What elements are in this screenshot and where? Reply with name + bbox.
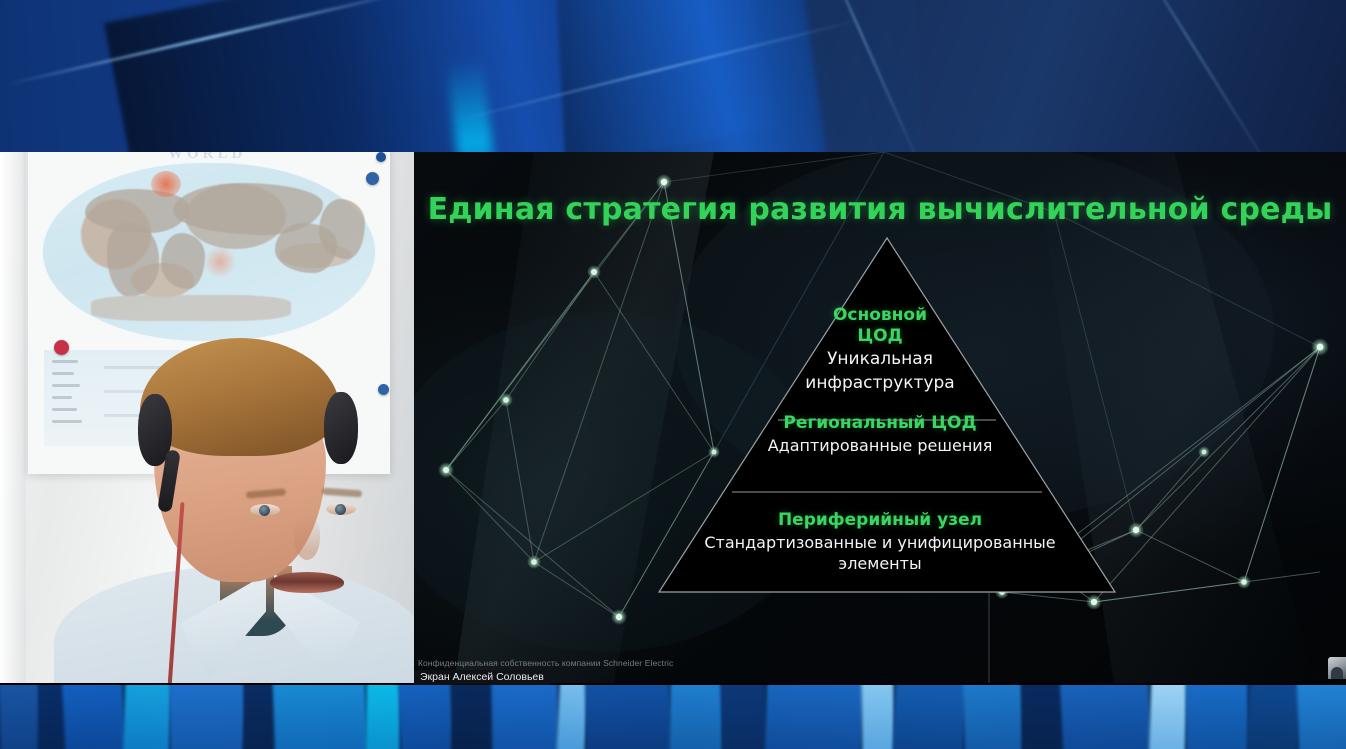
- top-decorative-backdrop: [0, 0, 1346, 152]
- wall-edge-highlight: [0, 152, 26, 683]
- map-hotspot-red: [151, 171, 181, 197]
- participant-figure: [88, 338, 388, 683]
- participant-thumbnail-partial[interactable]: [1328, 657, 1346, 679]
- screen-share-stage: WORLD: [0, 0, 1346, 749]
- map-pin-blue-1: [366, 172, 379, 185]
- map-pin-red: [54, 340, 69, 355]
- shared-slide[interactable]: Единая стратегия развития вычислительной…: [414, 152, 1346, 683]
- participant-video-tile[interactable]: WORLD: [0, 152, 414, 683]
- slide-confidentiality-footer: Конфиденциальная собственность компании …: [418, 658, 673, 668]
- pyramid-outline: [659, 238, 1115, 592]
- world-map-graphic: [42, 162, 376, 342]
- headset-earcup-right: [324, 392, 358, 464]
- bottom-decorative-backdrop: [0, 685, 1346, 749]
- pyramid-diagram[interactable]: [414, 152, 1346, 683]
- map-hotspot-orange: [203, 247, 237, 277]
- map-pin-blue-2: [376, 152, 386, 162]
- screen-share-presenter-label: Экран Алексей Соловьев: [414, 670, 550, 685]
